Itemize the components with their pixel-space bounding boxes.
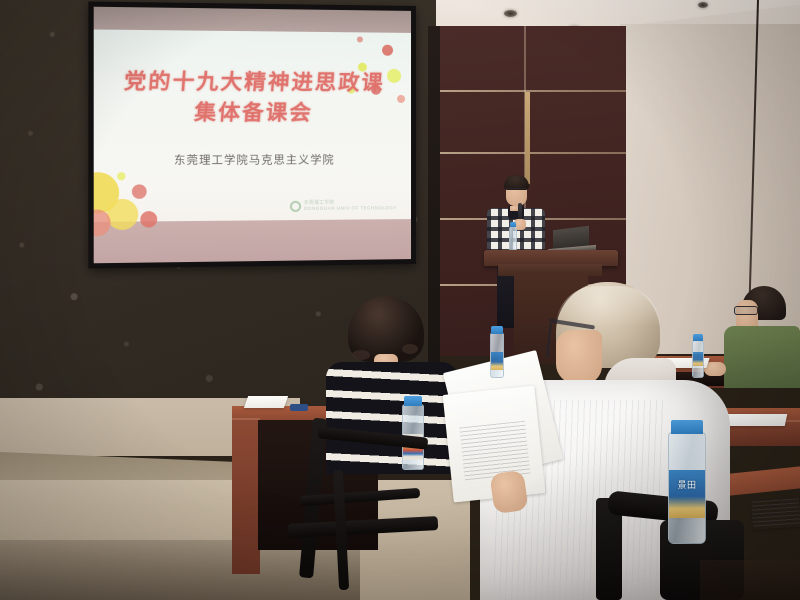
panel-wood-strip — [525, 92, 530, 184]
bottle-label — [693, 352, 703, 366]
bottle-label — [491, 352, 503, 370]
water-bottle — [509, 226, 517, 252]
handout-papers — [751, 498, 800, 529]
bottle-cap — [491, 326, 503, 334]
stationery-item — [290, 404, 308, 411]
slide-dot — [132, 184, 147, 199]
attendee-green-shirt — [724, 326, 800, 388]
projection-screen: 党的十九大精神进思政课 集体备课会 东莞理工学院马克思主义学院 东莞理工学院 D… — [88, 1, 416, 268]
panel-groove — [436, 90, 626, 92]
wall-pillar-shadow — [428, 26, 440, 366]
slide-subtitle: 东莞理工学院马克思主义学院 — [94, 151, 411, 168]
handout-papers — [725, 414, 788, 426]
slide-title-line2: 集体备课会 — [94, 98, 411, 129]
slide-dot — [106, 199, 138, 230]
logo-ring-icon — [290, 200, 301, 211]
slide-dot — [357, 36, 363, 42]
bottle-brand-text: 景田 — [669, 478, 705, 491]
desk-top — [730, 466, 800, 495]
slide-title: 党的十九大精神进思政课 集体备课会 — [94, 67, 411, 129]
panel-groove — [436, 152, 626, 154]
bottle-cap — [510, 222, 516, 227]
attendee-woman-striped-top — [326, 362, 458, 474]
presenter-glasses-icon — [507, 188, 526, 192]
handout-papers — [244, 396, 288, 408]
attendee-green-glasses-icon — [734, 306, 758, 315]
slide-dot — [140, 211, 157, 228]
slide-title-line1: 党的十九大精神进思政课 — [94, 67, 411, 99]
slide-dot — [117, 172, 125, 180]
attendee-white-hand — [489, 470, 528, 514]
hair-curl — [352, 350, 370, 360]
hair-curl — [402, 344, 418, 354]
logo-text-en: DONGGUAN UNIV OF TECHNOLOGY — [304, 205, 397, 212]
lecture-hall-photo: 党的十九大精神进思政课 集体备课会 东莞理工学院马克思主义学院 东莞理工学院 D… — [0, 0, 800, 600]
bottle-cap — [404, 396, 422, 406]
bottle-cap — [671, 420, 703, 434]
university-logo: 东莞理工学院 DONGGUAN UNIV OF TECHNOLOGY — [290, 199, 397, 212]
slide-dot — [382, 45, 393, 56]
slide-top-band — [94, 7, 411, 33]
bottle-cap — [693, 334, 703, 341]
slide-bottom-band — [94, 219, 411, 263]
desk-shadow — [700, 560, 800, 600]
attendee-white-face — [556, 330, 602, 384]
downlight-icon — [698, 2, 708, 8]
downlight-icon — [504, 10, 517, 17]
desk-side — [232, 418, 260, 574]
presentation-slide: 党的十九大精神进思政课 集体备课会 东莞理工学院马克思主义学院 东莞理工学院 D… — [94, 7, 411, 264]
